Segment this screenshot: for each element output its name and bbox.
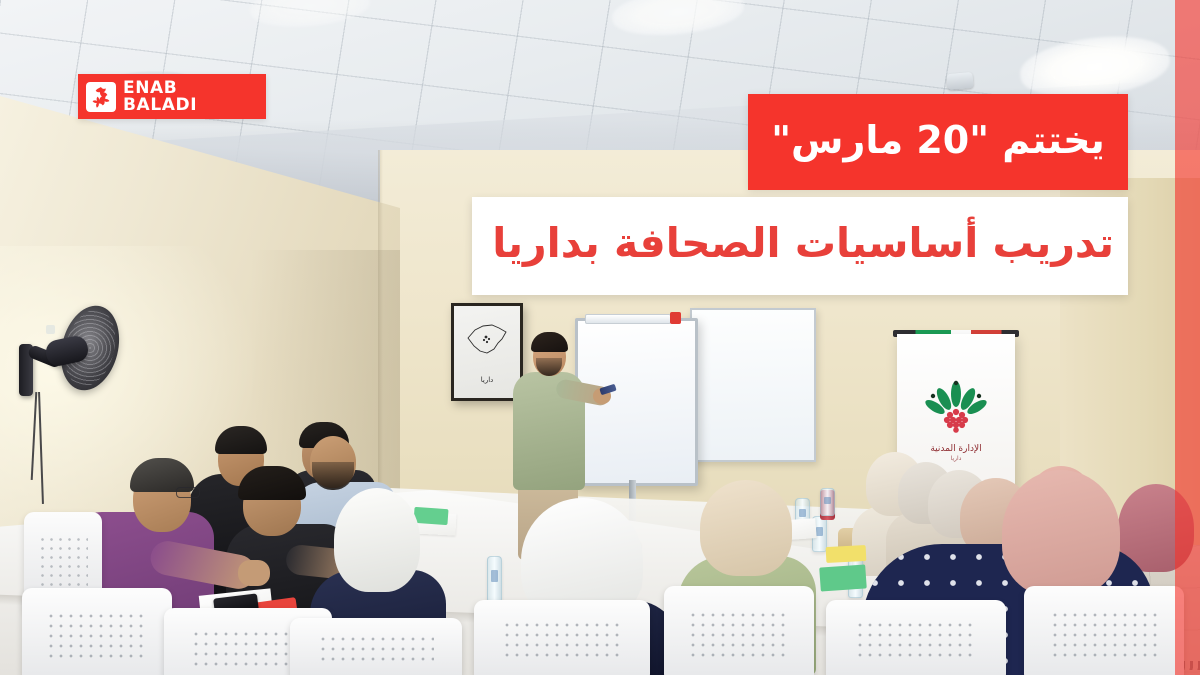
smoke-detector-icon [946,72,973,90]
headline-title: تدريب أساسيات الصحافة بداريا [492,219,1114,273]
participant-hijab [334,488,420,592]
plastic-chair [474,600,650,675]
green-leaf-grape-icon [925,380,987,440]
water-bottle [487,556,502,602]
flipchart-red-clip [670,312,681,324]
frame-caption: داريا [454,376,520,384]
chair-perforation [855,620,977,662]
eyeglasses-icon [176,487,200,498]
framed-picture: داريا [451,303,523,401]
sticky-note [819,564,867,591]
flipchart-clip [585,314,671,324]
chair-perforation [318,634,435,666]
water-bottle [820,488,835,516]
sticky-note [413,507,448,525]
right-edge-accent-stripe [1175,0,1200,675]
plastic-chair [22,588,172,675]
chair-perforation [46,611,148,660]
plastic-chair [290,618,462,675]
participant-hijab [1002,470,1120,596]
screenshot-root: داريا [0,0,1200,675]
chair-perforation [1050,610,1159,660]
headline-kicker: يختتم "20 مارس" [771,118,1105,166]
headline-band-red: يختتم "20 مارس" [748,94,1128,190]
grape-leaf-icon [86,82,116,112]
sticky-note [826,545,867,563]
headline-band-white: تدريب أساسيات الصحافة بداريا [472,197,1128,295]
enab-baladi-logo[interactable]: ENAB BALADI [78,74,266,119]
plastic-chair [826,600,1006,675]
plastic-chair [664,586,814,675]
frame-inner: داريا [454,306,520,398]
chair-perforation [191,629,305,672]
logo-wordmark: ENAB BALADI [123,80,197,112]
plastic-chair [1024,586,1184,675]
rollup-org-name: الإدارة المدنية [897,444,1015,455]
wall-whiteboard [690,308,816,462]
logo-line-2: BALADI [123,97,197,113]
chair-perforation [688,610,790,660]
chair-perforation [502,620,622,662]
participant-hand [238,560,270,586]
participant-hijab [700,480,792,576]
syria-map-icon [465,322,509,356]
wall-outlet [46,325,55,334]
